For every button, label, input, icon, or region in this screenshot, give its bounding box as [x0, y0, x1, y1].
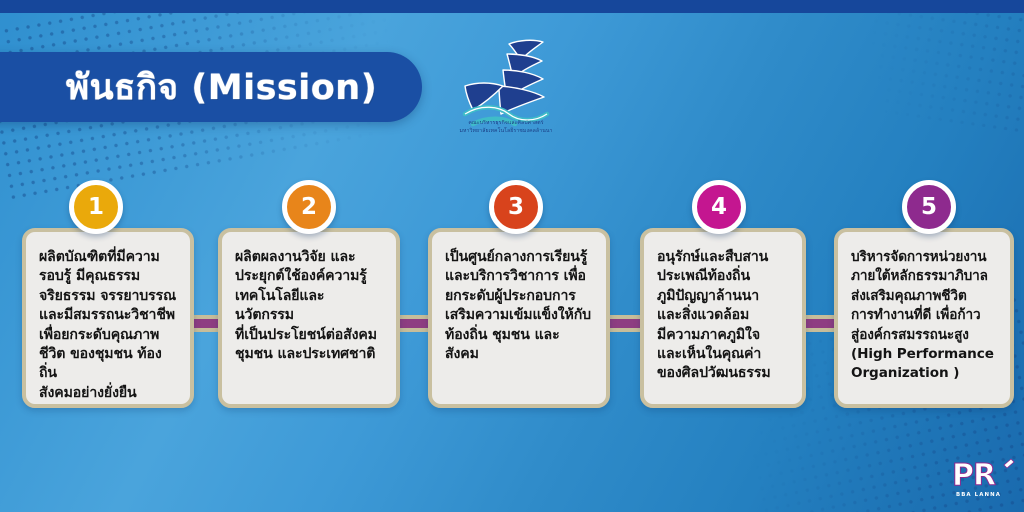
logo-caption-line-1: คณะบริหารธุรกิจและศิลปศาสตร์ [444, 120, 568, 128]
megaphone-icon [1002, 457, 1016, 471]
mission-card-4[interactable]: อนุรักษ์และสืบสาน ประเพณีท้องถิ่น ภูมิปั… [640, 228, 806, 408]
connector-2-3 [398, 315, 432, 332]
mission-card-4-text: อนุรักษ์และสืบสาน ประเพณีท้องถิ่น ภูมิปั… [657, 248, 789, 384]
mission-card-3-text: เป็นศูนย์กลางการเรียนรู้ และบริการวิชากา… [445, 248, 593, 364]
pr-watermark-subtitle: BBA LANNA [956, 492, 1001, 498]
mission-badge-2: 2 [282, 180, 336, 234]
mission-card-1-text: ผลิตบัณฑิตที่มีความ รอบรู้ มีคุณธรรม จริ… [39, 248, 177, 403]
mission-card-2-text: ผลิตผลงานวิจัย และ ประยุกต์ใช้องค์ความรู… [235, 248, 383, 364]
logo-caption: คณะบริหารธุรกิจและศิลปศาสตร์ มหาวิทยาลัย… [444, 120, 568, 135]
top-accent-bar [0, 0, 1024, 13]
logo-caption-line-2: มหาวิทยาลัยเทคโนโลยีราชมงคลล้านนา [444, 128, 568, 136]
connector-4-5 [804, 315, 838, 332]
mission-infographic: พันธกิจ (Mission) คณะบริหารธุรกิจและศิลป… [0, 0, 1024, 512]
connector-3-4 [608, 315, 642, 332]
mission-card-5[interactable]: บริหารจัดการหน่วยงาน ภายใต้หลักธรรมาภิบา… [834, 228, 1014, 408]
mission-card-1[interactable]: ผลิตบัณฑิตที่มีความ รอบรู้ มีคุณธรรม จริ… [22, 228, 194, 408]
mission-card-5-text: บริหารจัดการหน่วยงาน ภายใต้หลักธรรมาภิบา… [851, 248, 997, 384]
mission-card-2[interactable]: ผลิตผลงานวิจัย และ ประยุกต์ใช้องค์ความรู… [218, 228, 400, 408]
halftone-dots-top-right [815, 0, 1024, 135]
pr-watermark-letters: PR [952, 461, 995, 491]
page-title: พันธกิจ (Mission) [66, 60, 446, 116]
mission-badge-1: 1 [69, 180, 123, 234]
mission-badge-4: 4 [692, 180, 746, 234]
mission-badge-5: 5 [902, 180, 956, 234]
mission-card-3[interactable]: เป็นศูนย์กลางการเรียนรู้ และบริการวิชากา… [428, 228, 610, 408]
pr-watermark: PR BBA LANNA [952, 461, 1014, 503]
mission-badge-3: 3 [489, 180, 543, 234]
